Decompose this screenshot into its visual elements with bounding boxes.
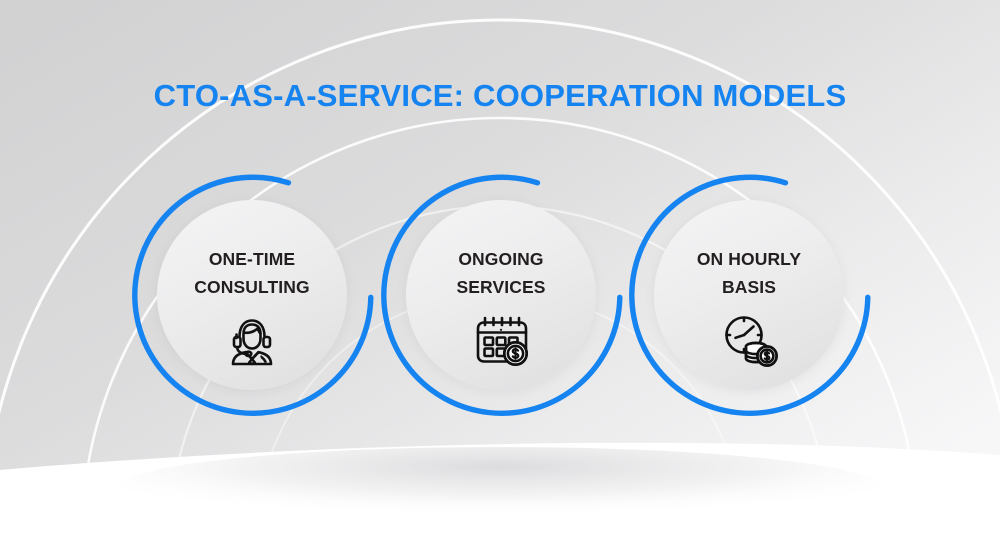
calendar-dollar-icon — [469, 311, 533, 369]
card-inner-circle-3: ON HOURLY BASIS — [654, 200, 844, 390]
card-inner-circle-1: ONE-TIME CONSULTING — [157, 200, 347, 390]
support-agent-headset-icon — [220, 311, 284, 369]
card-label-1: ONE-TIME CONSULTING — [162, 246, 342, 301]
card-label-2: ONGOING SERVICES — [411, 246, 591, 301]
infographic-slide: CTO-AS-A-SERVICE: COOPERATION MODELS ONE… — [0, 0, 1000, 539]
card-one-time-consulting[interactable]: ONE-TIME CONSULTING — [127, 170, 377, 420]
panel-drop-shadow — [120, 447, 880, 527]
card-on-hourly-basis[interactable]: ON HOURLY BASIS — [624, 170, 874, 420]
card-label-3: ON HOURLY BASIS — [659, 246, 839, 301]
card-inner-circle-2: ONGOING SERVICES — [406, 200, 596, 390]
page-title: CTO-AS-A-SERVICE: COOPERATION MODELS — [0, 78, 1000, 114]
card-ongoing-services[interactable]: ONGOING SERVICES — [376, 170, 626, 420]
clock-coins-dollar-icon — [717, 311, 781, 369]
